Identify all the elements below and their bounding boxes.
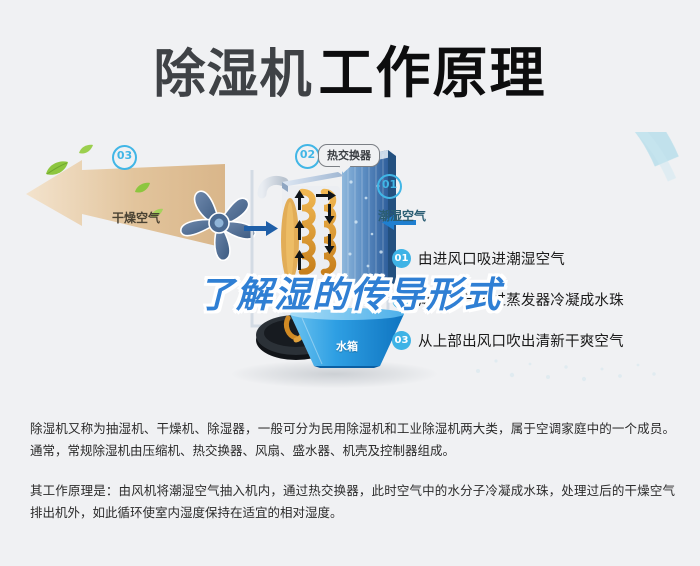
badge-01: 01 (377, 174, 402, 199)
leaf-icon (78, 144, 94, 156)
paragraph-2: 其工作原理是：由风机将潮湿空气抽入机内，通过热交换器，此时空气中的水分子冷凝成水… (30, 480, 675, 524)
callout-heat-exchanger-label: 热交换器 (327, 149, 371, 162)
step-number: 01 (392, 249, 411, 268)
caption-dry-air: 干燥空气 (112, 209, 160, 226)
step-text: 由进风口吸进潮湿空气 (418, 248, 565, 269)
steps-list: 01 由进风口吸进潮湿空气 02 潮湿空气经过蒸发器冷凝成水珠 03 从上部出风… (392, 248, 682, 371)
leaf-icon (44, 160, 70, 178)
callout-heat-exchanger: 热交换器 (318, 144, 380, 167)
dehumidifier-infographic: 除湿机工作原理 (0, 0, 700, 566)
leaf-icon (134, 182, 151, 195)
list-item: 02 潮湿空气经过蒸发器冷凝成水珠 (392, 289, 682, 310)
page-title-part1: 除湿机 (153, 45, 312, 105)
paragraph-1: 除湿机又称为抽湿机、干燥机、除湿器，一般可分为民用除湿机和工业除湿机两大类，属于… (30, 418, 675, 462)
diagram-stage: 水箱 03 干燥空气 02 热交换器 01 潮湿空气 01 由进风口吸进潮湿空气… (0, 112, 700, 397)
badge-02: 02 (295, 144, 320, 169)
page-title: 除湿机工作原理 (0, 28, 700, 108)
list-item: 03 从上部出风口吹出清新干爽空气 (392, 330, 682, 351)
body-copy: 除湿机又称为抽湿机、干燥机、除湿器，一般可分为民用除湿机和工业除湿机两大类，属于… (30, 418, 675, 542)
step-number: 03 (392, 331, 411, 350)
list-item: 01 由进风口吸进潮湿空气 (392, 248, 682, 269)
page-title-part2: 工作原理 (319, 41, 547, 105)
water-tank: 水箱 (288, 308, 406, 370)
step-text: 从上部出风口吹出清新干爽空气 (418, 330, 624, 351)
step-text: 潮湿空气经过蒸发器冷凝成水珠 (418, 289, 624, 310)
step-number: 02 (392, 290, 411, 309)
badge-03: 03 (112, 145, 137, 170)
caption-humid-air: 潮湿空气 (378, 207, 426, 224)
water-tank-label: 水箱 (288, 338, 406, 354)
